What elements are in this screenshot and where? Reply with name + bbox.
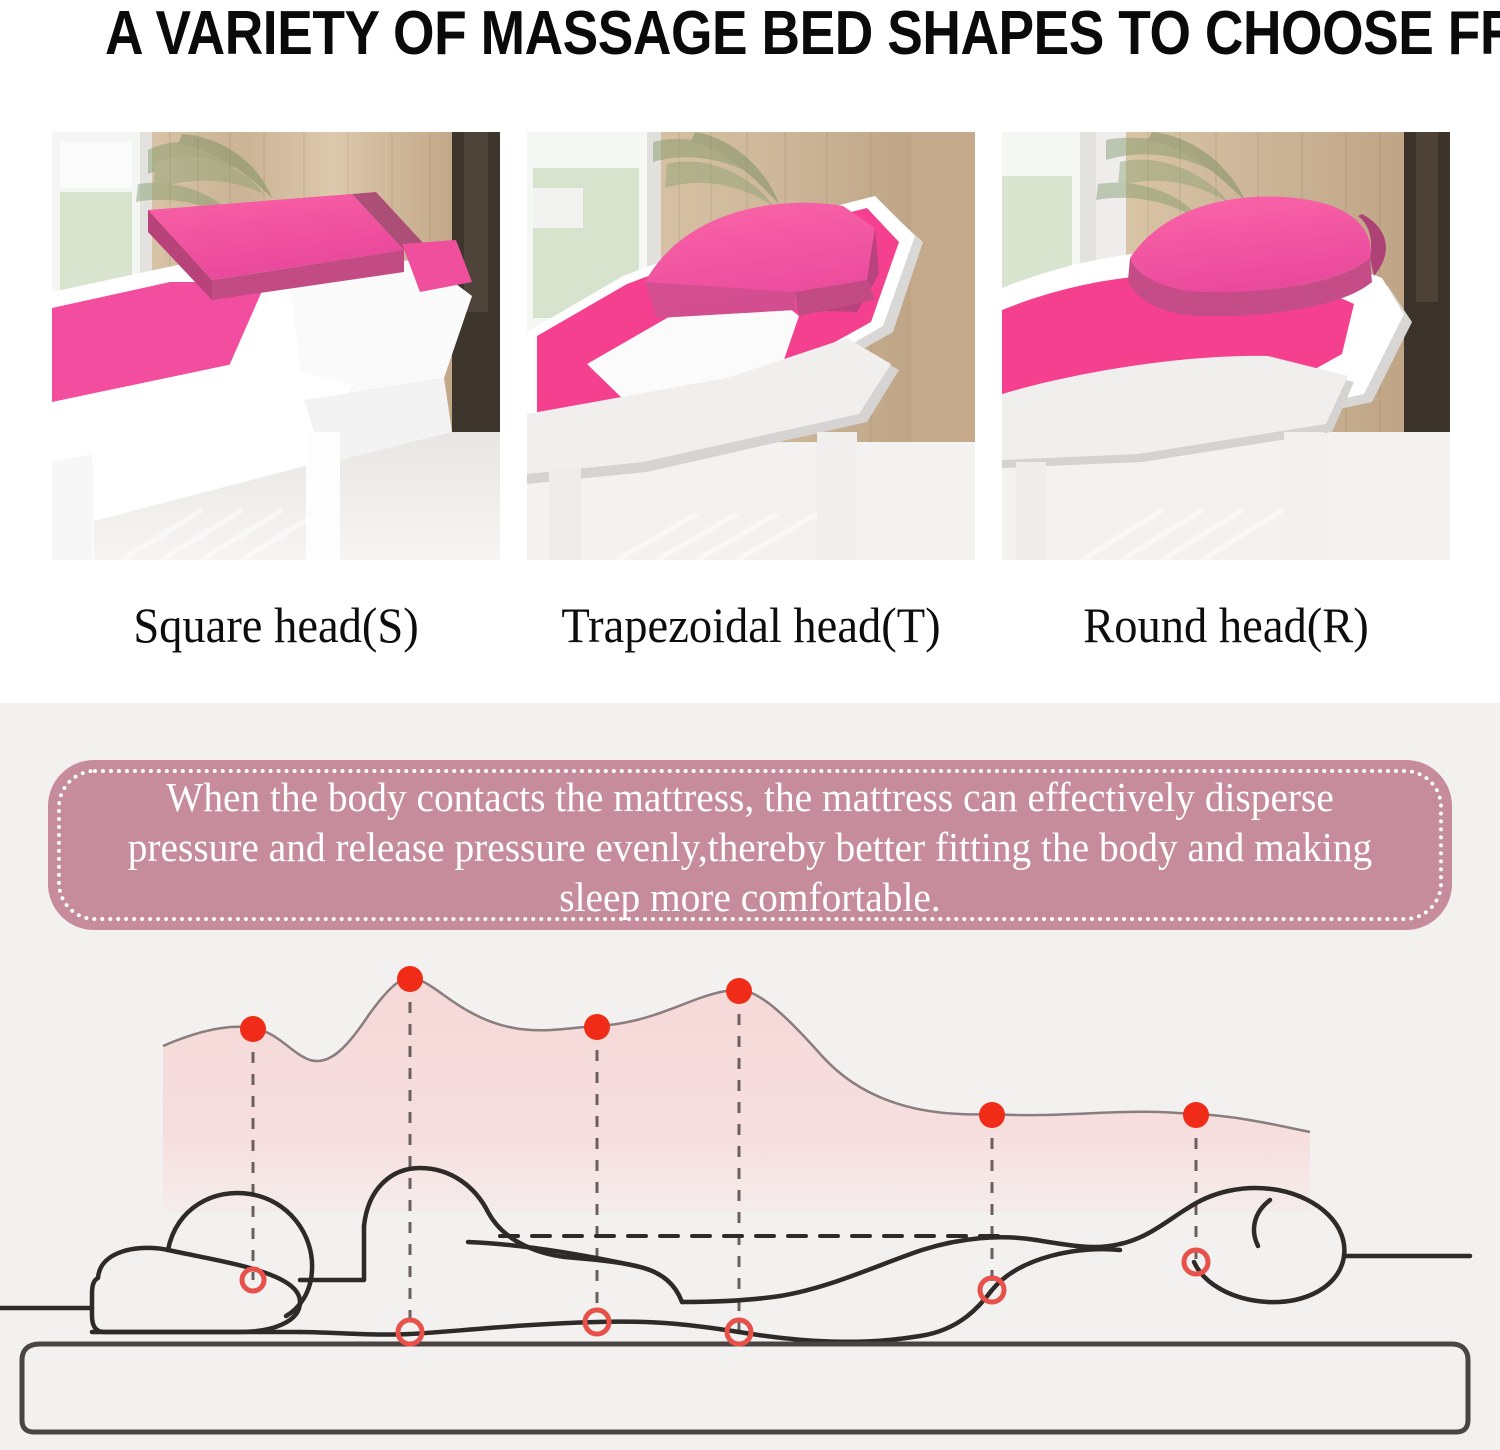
pressure-distribution-diagram bbox=[0, 950, 1500, 1450]
bed-photo-trapezoidal-head[interactable] bbox=[527, 132, 975, 560]
caption-round-head: Round head(R) bbox=[1018, 582, 1435, 672]
mattress bbox=[22, 1344, 1468, 1432]
product-infographic: A VARIETY OF MASSAGE BED SHAPES TO CHOOS… bbox=[0, 0, 1500, 1450]
notice-text: When the body contacts the mattress, the… bbox=[105, 772, 1395, 922]
pressure-curve-area bbox=[163, 978, 1310, 1212]
body-contact-markers bbox=[242, 1250, 1208, 1344]
bed-shape-gallery bbox=[52, 132, 1450, 560]
caption-trapezoidal-head: Trapezoidal head(T) bbox=[543, 582, 960, 672]
caption-square-head: Square head(S) bbox=[68, 582, 485, 672]
bed-shapes-section: A VARIETY OF MASSAGE BED SHAPES TO CHOOS… bbox=[0, 0, 1500, 703]
bed-photo-square-head[interactable] bbox=[52, 132, 500, 560]
notice-banner: When the body contacts the mattress, the… bbox=[48, 760, 1452, 930]
page-title: A VARIETY OF MASSAGE BED SHAPES TO CHOOS… bbox=[105, 2, 1395, 66]
pressure-relief-section: When the body contacts the mattress, the… bbox=[0, 703, 1500, 1450]
bed-photo-round-head[interactable] bbox=[1002, 132, 1450, 560]
bed-shape-captions: Square head(S) Trapezoidal head(T) Round… bbox=[52, 582, 1450, 672]
